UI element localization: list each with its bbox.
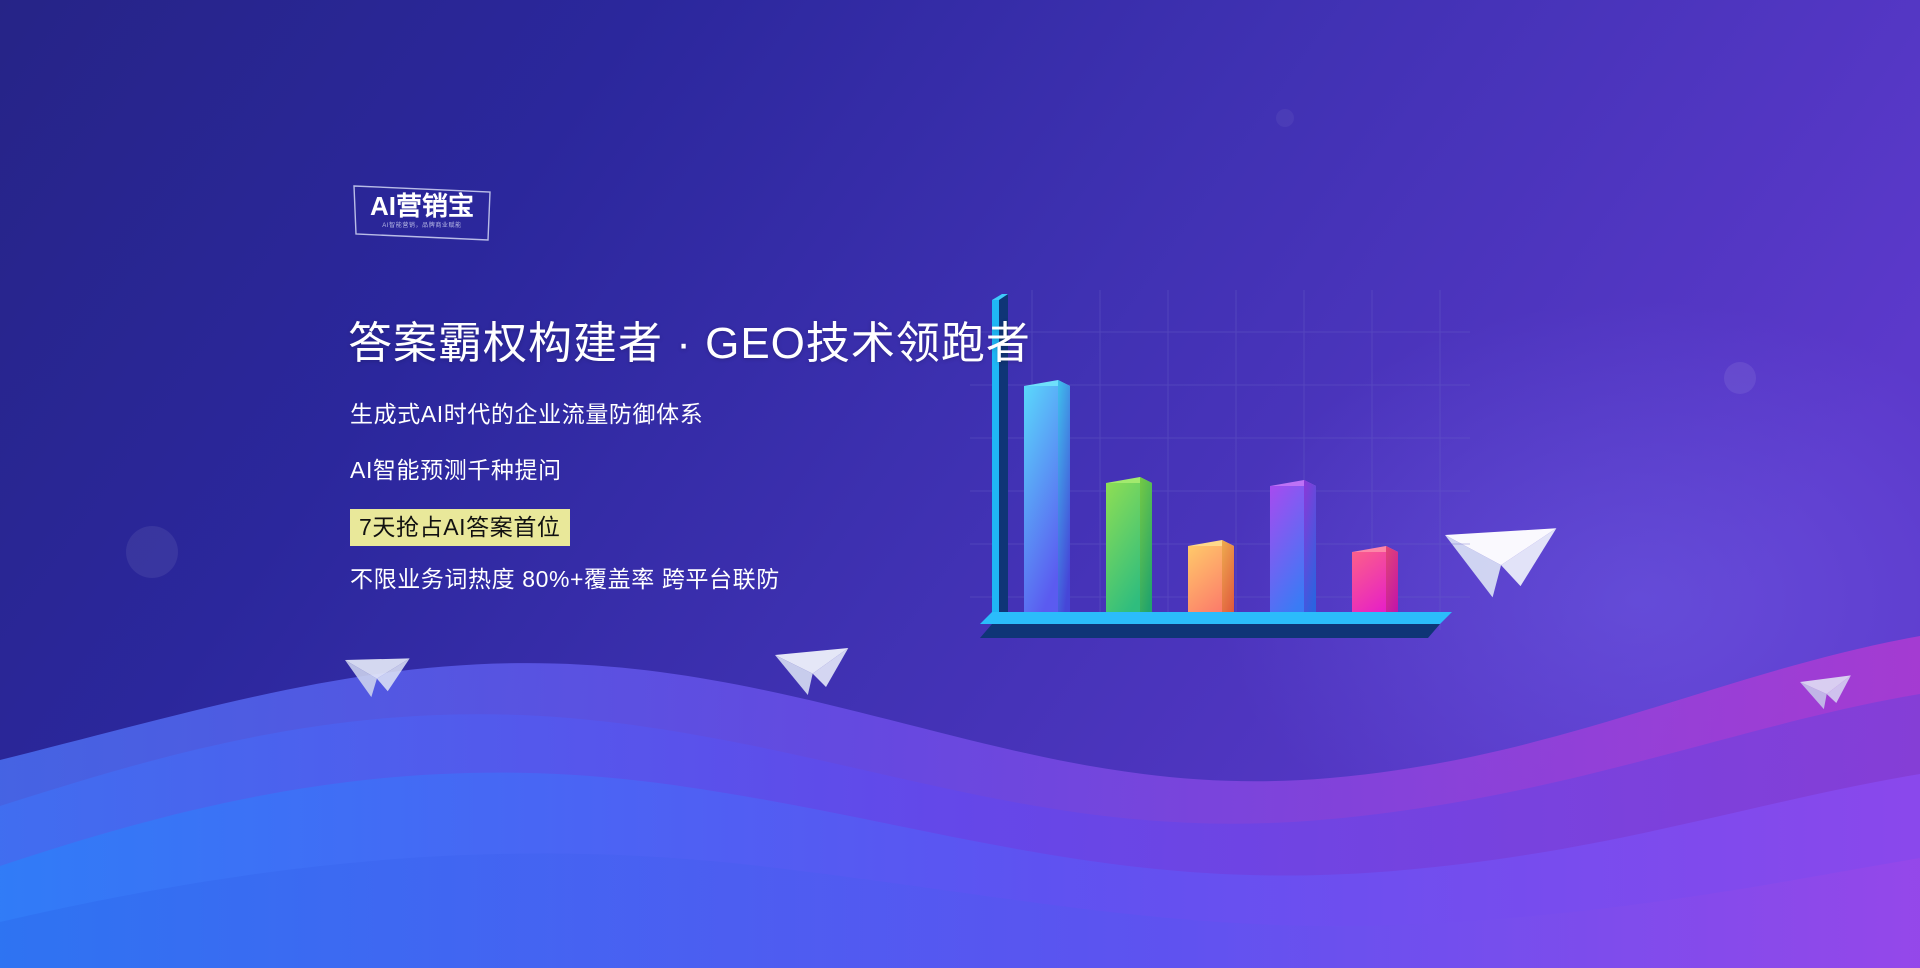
chart-bar-2 [1106,477,1152,630]
logo-tagline: AI智能营销，品牌商业赋能 [382,223,461,229]
hero-banner: AI营销宝 AI智能营销，品牌商业赋能 答案霸权构建者 · GEO技术领跑者 生… [0,0,1920,968]
deco-circle-top [1276,109,1294,127]
hero-subline-1: 生成式AI时代的企业流量防御体系 [350,400,703,430]
deco-circle-right [1724,362,1756,394]
chart-bar-4 [1270,480,1316,630]
hero-highlight-badge: 7天抢占AI答案首位 [350,509,570,546]
chart-base-platform [980,612,1452,638]
hero-subline-2: AI智能预测千种提问 [350,456,562,486]
logo-wordmark: AI营销宝 [370,193,474,219]
background-decoration [0,0,1920,968]
hero-headline: 答案霸权构建者 · GEO技术领跑者 [348,318,1031,371]
brand-logo[interactable]: AI营销宝 AI智能营销，品牌商业赋能 [352,182,492,244]
chart-bar-1 [1024,380,1070,630]
hero-subline-4: 不限业务词热度 80%+覆盖率 跨平台联防 [350,565,780,595]
bar-chart-illustration [970,290,1470,670]
deco-circle-left [126,526,178,578]
